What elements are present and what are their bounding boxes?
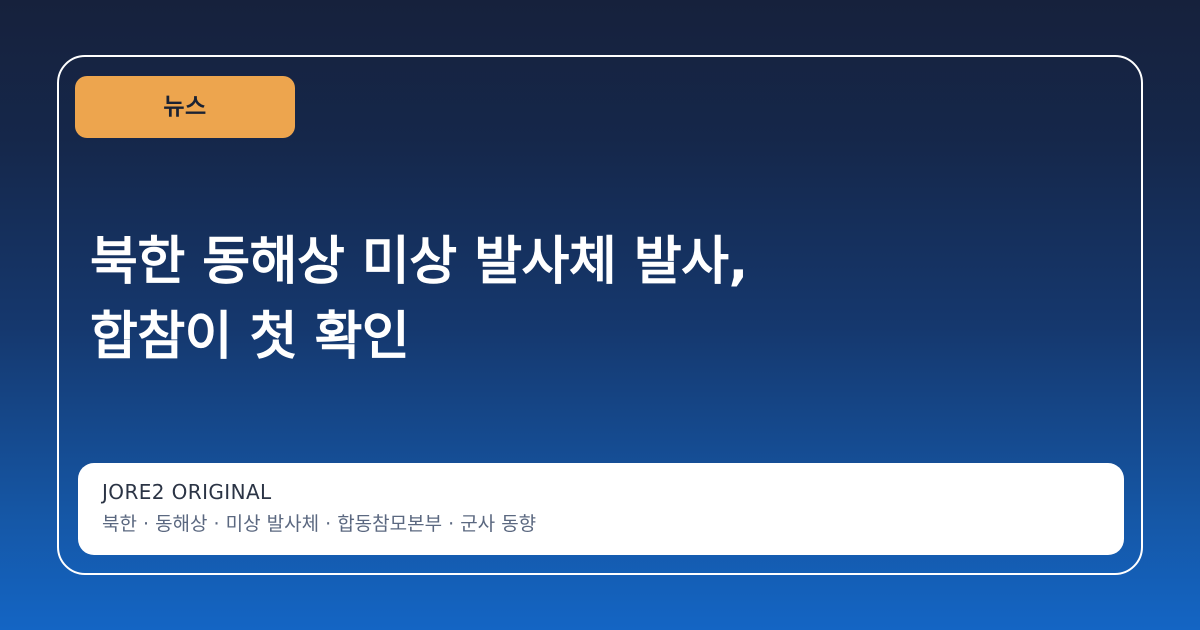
category-badge: 뉴스	[75, 76, 295, 138]
social-card-canvas: 뉴스 북한 동해상 미상 발사체 발사, 합참이 첫 확인 JORE2 ORIG…	[0, 0, 1200, 630]
source-footer-card: JORE2 ORIGINAL 북한 · 동해상 · 미상 발사체 · 합동참모본…	[78, 463, 1124, 555]
category-badge-label: 뉴스	[163, 96, 206, 119]
page-title: 북한 동해상 미상 발사체 발사, 합참이 첫 확인	[90, 225, 990, 375]
news-card-content: 뉴스 북한 동해상 미상 발사체 발사, 합참이 첫 확인 JORE2 ORIG…	[59, 57, 1141, 573]
brand-label: JORE2 ORIGINAL	[102, 479, 1100, 505]
news-card-panel: 뉴스 북한 동해상 미상 발사체 발사, 합참이 첫 확인 JORE2 ORIG…	[57, 55, 1143, 575]
tag-list: 북한 · 동해상 · 미상 발사체 · 합동참모본부 · 군사 동향	[102, 512, 1100, 537]
